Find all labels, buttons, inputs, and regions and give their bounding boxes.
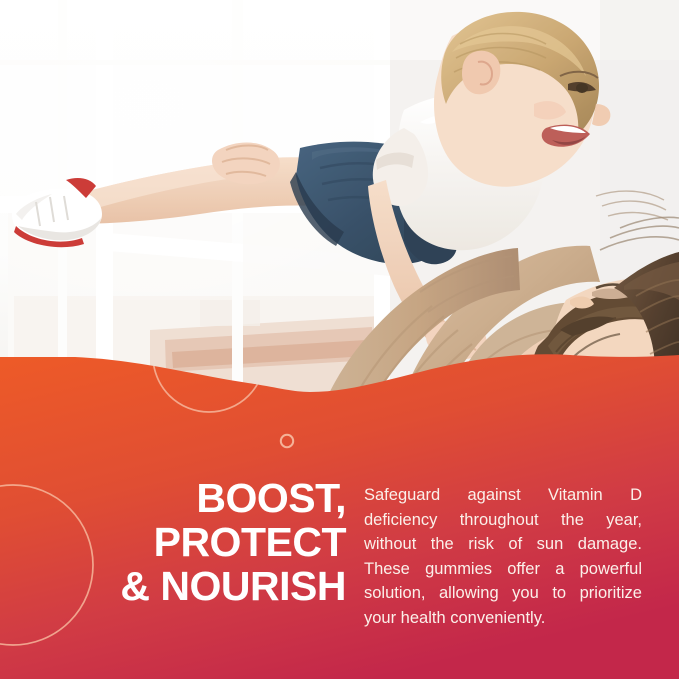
page-title: BOOST, PROTECT & NOURISH <box>0 476 346 608</box>
promo-banner: BOOST, PROTECT & NOURISH Safeguard again… <box>0 0 679 679</box>
promo-panel: BOOST, PROTECT & NOURISH Safeguard again… <box>0 330 679 679</box>
promo-description: Safeguard against Vitamin D deficiency t… <box>364 483 642 630</box>
